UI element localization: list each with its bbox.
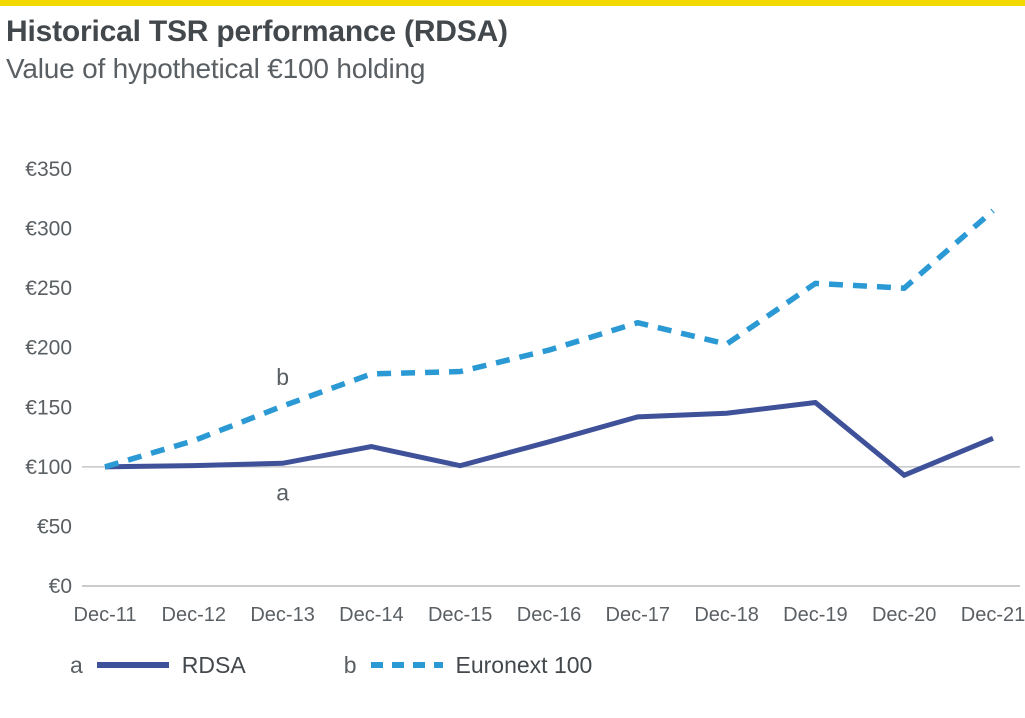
y-axis-tick-label: €100	[25, 456, 72, 479]
chart-subtitle: Value of hypothetical €100 holding	[6, 52, 1006, 86]
y-axis-tick-label: €200	[25, 337, 72, 360]
y-axis-tick-labels: €0€50€100€150€200€250€300€350	[25, 158, 72, 598]
legend-swatch-dashed-line	[369, 657, 445, 673]
x-axis-tick-label: Dec-21	[961, 604, 1025, 626]
chart-legend: a RDSA b Euronext 100	[0, 645, 1025, 690]
top-accent-bar	[0, 0, 1025, 6]
series-annotation-group: ba	[276, 364, 289, 505]
series-annotation-a: a	[276, 479, 289, 505]
series-line-euronext-100	[105, 211, 993, 467]
legend-entry-rdsa[interactable]: a RDSA	[70, 654, 246, 677]
x-axis-tick-label: Dec-15	[428, 604, 492, 626]
x-axis-tick-label: Dec-16	[517, 604, 581, 626]
series-line-rdsa	[105, 403, 993, 476]
page-title: Historical TSR performance (RDSA)	[6, 14, 1006, 50]
y-axis-tick-label: €150	[25, 396, 72, 419]
x-axis-tick-label: Dec-20	[872, 604, 936, 626]
x-axis-tick-label: Dec-11	[74, 604, 137, 626]
x-axis-tick-label: Dec-17	[606, 604, 670, 626]
legend-key-b: b	[344, 654, 357, 677]
x-axis-tick-label: Dec-18	[694, 604, 758, 626]
legend-label-euronext-100: Euronext 100	[456, 654, 593, 677]
x-axis-tick-label: Dec-19	[783, 604, 847, 626]
y-axis-tick-label: €300	[25, 218, 72, 241]
x-axis-tick-labels: Dec-11Dec-12Dec-13Dec-14Dec-15Dec-16Dec-…	[74, 604, 1025, 626]
x-axis-tick-label: Dec-12	[162, 604, 226, 626]
series-annotation-b: b	[276, 364, 289, 390]
x-axis-tick-label: Dec-13	[250, 604, 314, 626]
y-axis-tick-label: €350	[25, 158, 72, 181]
legend-swatch-solid-line	[95, 657, 171, 673]
chart-series-group	[105, 211, 993, 475]
y-axis-tick-label: €0	[49, 575, 72, 598]
legend-entry-euronext-100[interactable]: b Euronext 100	[344, 654, 593, 677]
legend-row: a RDSA b Euronext 100	[70, 645, 592, 685]
legend-key-a: a	[70, 654, 83, 677]
line-chart-svg: €0€50€100€150€200€250€300€350 Dec-11Dec-…	[0, 140, 1025, 640]
y-axis-tick-label: €50	[37, 515, 72, 538]
x-axis-tick-label: Dec-14	[339, 604, 403, 626]
chart-header: Historical TSR performance (RDSA) Value …	[6, 14, 1006, 86]
y-axis-tick-label: €250	[25, 277, 72, 300]
legend-label-rdsa: RDSA	[182, 654, 246, 677]
chart-plot-area: €0€50€100€150€200€250€300€350 Dec-11Dec-…	[0, 140, 1025, 640]
